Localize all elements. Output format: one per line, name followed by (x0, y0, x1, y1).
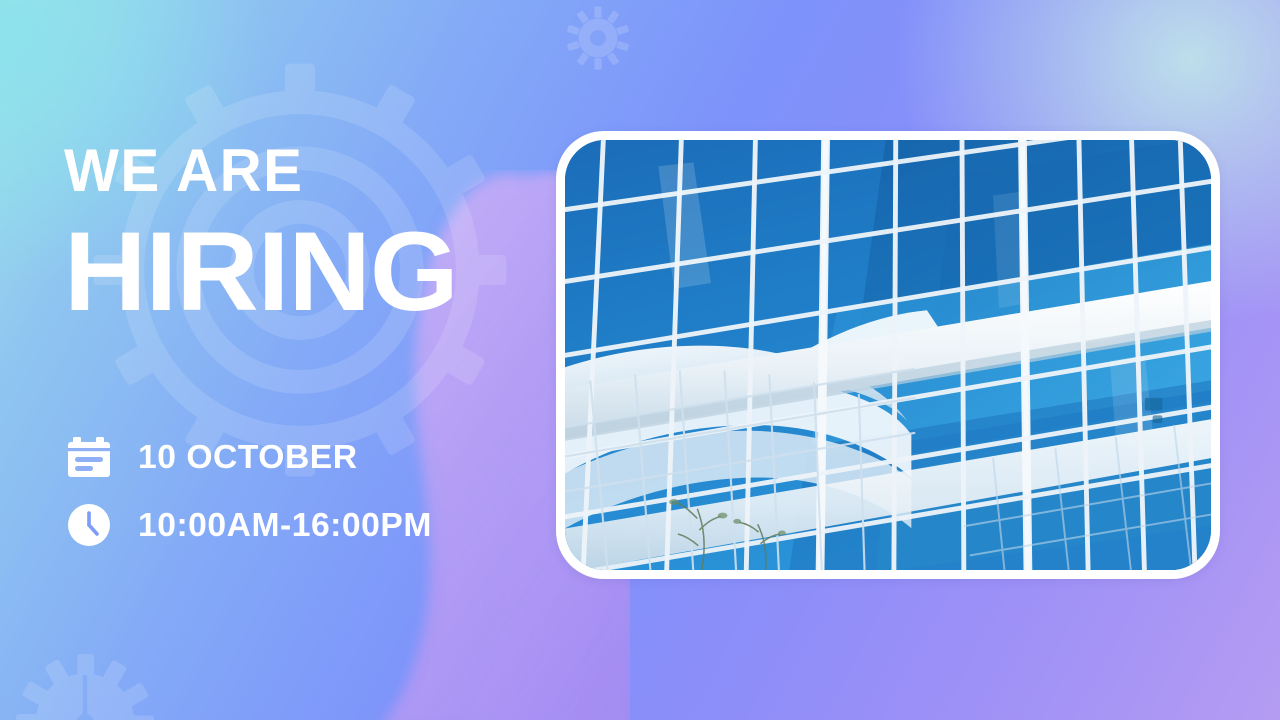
clock-icon (66, 502, 112, 548)
hiring-poster: WE ARE HIRING 10 OCTOBER (0, 0, 1280, 720)
building-photo (565, 140, 1211, 570)
detail-row-date: 10 OCTOBER (66, 428, 426, 486)
headline-line-1: WE ARE (64, 140, 438, 202)
gear-watermark-top (562, 2, 634, 74)
headline-block: WE ARE HIRING (64, 140, 450, 324)
headline-line-2: HIRING (64, 220, 458, 324)
detail-label-date: 10 OCTOBER (138, 438, 358, 476)
gear-watermark-bottom-left (10, 648, 160, 720)
detail-row-time: 10:00AM-16:00PM (66, 496, 426, 554)
building-photo-card (556, 131, 1220, 579)
detail-label-time: 10:00AM-16:00PM (138, 506, 432, 544)
event-details-list: 10 OCTOBER 10:00AM-16:00PM (66, 428, 426, 554)
calendar-icon (66, 434, 112, 480)
